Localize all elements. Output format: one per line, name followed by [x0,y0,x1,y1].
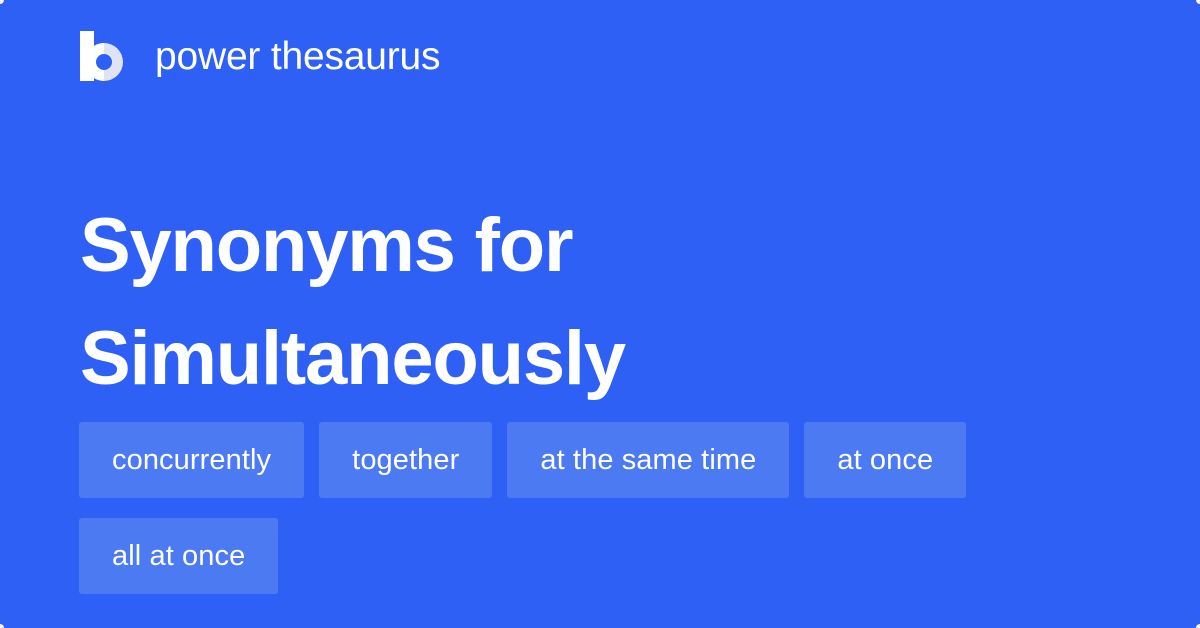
card-corner-bottom-right [1196,624,1200,628]
brand-header[interactable]: power thesaurus [80,28,440,84]
power-thesaurus-share-card: power thesaurus Synonyms for Simultaneou… [0,0,1200,628]
card-corner-bottom-left [0,624,4,628]
synonym-chip-list: concurrently together at the same time a… [79,422,1129,594]
page-title-line-1: Synonyms for [80,189,1120,302]
synonym-chip[interactable]: at once [804,422,966,498]
synonym-chip[interactable]: concurrently [79,422,304,498]
synonym-chip[interactable]: together [319,422,492,498]
synonym-chip[interactable]: all at once [79,518,278,594]
power-thesaurus-b-logo-icon [80,31,126,81]
brand-name: power thesaurus [155,37,440,76]
page-title: Synonyms for Simultaneously [80,189,1120,415]
synonym-chip[interactable]: at the same time [507,422,789,498]
card-corner-top-left [0,0,4,4]
page-title-line-2: Simultaneously [80,302,1120,415]
card-corner-top-right [1196,0,1200,4]
